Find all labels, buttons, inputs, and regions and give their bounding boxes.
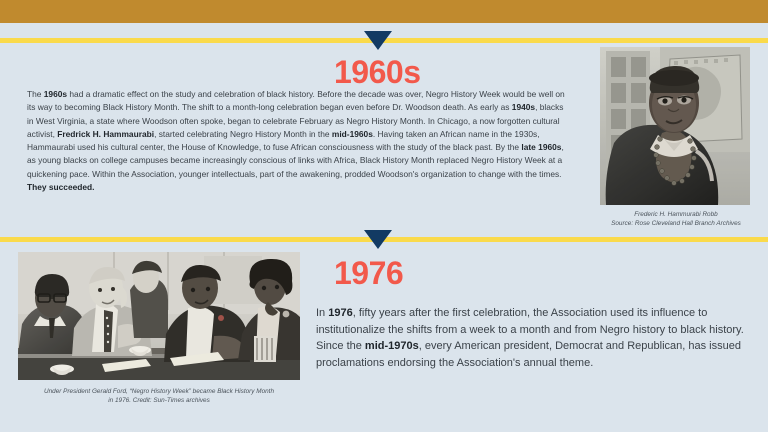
caption-line-2: in 1976. Credit: Sun-Times archives <box>18 396 300 405</box>
caption-line-1: Under President Gerald Ford, “Negro Hist… <box>18 387 300 396</box>
section-body-1960s: The 1960s had a dramatic effect on the s… <box>27 88 569 194</box>
photo-frederic-hammurabi-robb <box>600 47 750 205</box>
section-body-1976: In 1976, fifty years after the first cel… <box>316 305 754 371</box>
photo-caption-ford: Under President Gerald Ford, “Negro Hist… <box>18 387 300 405</box>
section-heading-1976: 1976 <box>334 257 403 289</box>
timeline-page: 1960s The 1960s had a dramatic effect on… <box>0 0 768 432</box>
caption-line-1: Frederic H. Hammurabi Robb <box>590 210 762 219</box>
top-gold-band <box>0 0 768 23</box>
caption-line-2: Source: Rose Cleveland Hall Branch Archi… <box>590 219 762 228</box>
section-heading-1960s: 1960s <box>334 56 420 88</box>
down-triangle-marker-1976 <box>364 230 392 249</box>
photo-caption-hammurabi: Frederic H. Hammurabi Robb Source: Rose … <box>590 210 762 228</box>
down-triangle-marker-1960s <box>364 31 392 50</box>
photo-gerald-ford-meeting <box>18 252 300 380</box>
